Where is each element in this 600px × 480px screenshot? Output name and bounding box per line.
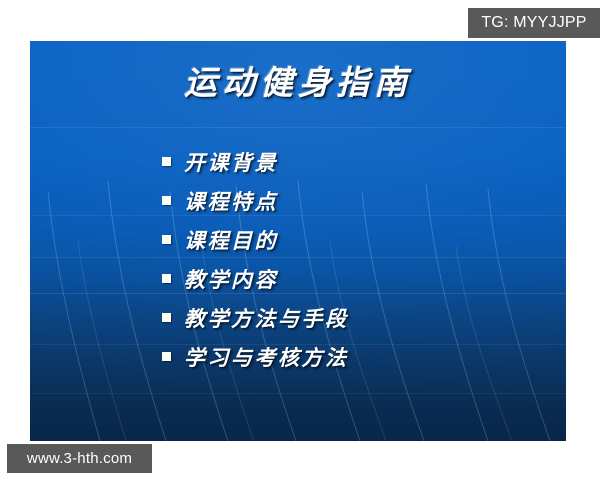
square-bullet-icon <box>162 274 171 283</box>
slide-bullet-list: 开课背景 课程特点 课程目的 教学内容 教学方法与手段 学习与考核方法 <box>162 142 349 376</box>
bullet-label: 课程目的 <box>184 225 278 255</box>
square-bullet-icon <box>162 157 171 166</box>
list-item: 教学内容 <box>162 259 349 298</box>
list-item: 开课背景 <box>162 142 349 181</box>
site-watermark-badge: www.3-hth.com <box>7 444 152 473</box>
list-item: 课程目的 <box>162 220 349 259</box>
list-item: 学习与考核方法 <box>162 337 349 376</box>
square-bullet-icon <box>162 313 171 322</box>
presentation-slide: 运动健身指南 开课背景 课程特点 课程目的 教学内容 教学方法与手段 学习与考核… <box>30 41 566 441</box>
list-item: 教学方法与手段 <box>162 298 349 337</box>
slide-title: 运动健身指南 <box>30 65 566 101</box>
square-bullet-icon <box>162 196 171 205</box>
square-bullet-icon <box>162 235 171 244</box>
tg-watermark-badge: TG: MYYJJPP <box>468 8 600 38</box>
bullet-label: 学习与考核方法 <box>184 342 349 372</box>
bullet-label: 课程特点 <box>184 186 278 216</box>
square-bullet-icon <box>162 352 171 361</box>
bullet-label: 教学方法与手段 <box>184 303 349 333</box>
list-item: 课程特点 <box>162 181 349 220</box>
bullet-label: 教学内容 <box>184 264 278 294</box>
bullet-label: 开课背景 <box>184 147 278 177</box>
